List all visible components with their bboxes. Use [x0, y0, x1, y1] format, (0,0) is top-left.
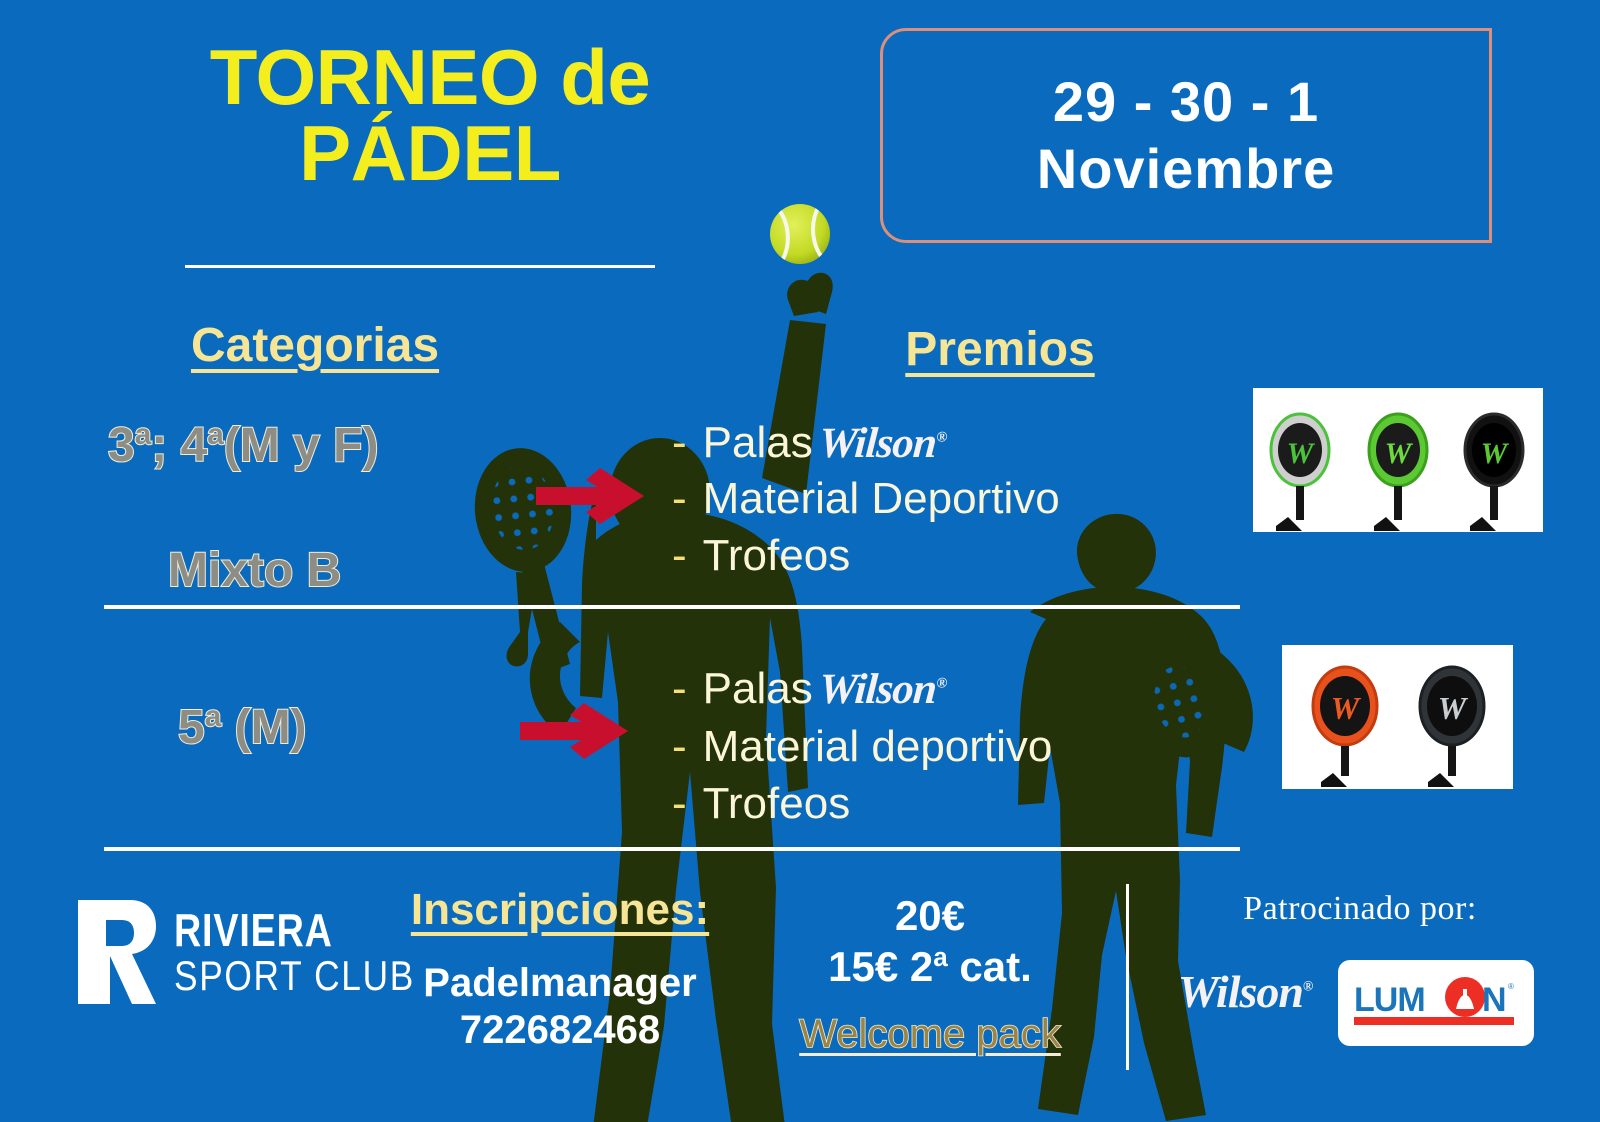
sponsor-wilson-logo: Wilson® [1160, 965, 1330, 1018]
welcome-pack-label: Welcome pack [760, 1012, 1100, 1057]
lumon-mark: LUM N ® [1352, 975, 1520, 1031]
section-divider-2 [104, 847, 1240, 851]
category-item-3: 5a (M) [178, 700, 307, 755]
dash-bullet: - [672, 718, 687, 775]
prize-text: Palas [703, 660, 813, 717]
sponsors-heading: Patrocinado por: [1150, 890, 1570, 928]
prize-text: Palas [703, 415, 813, 471]
dash-bullet: - [672, 660, 687, 717]
prize-text: Material Deportivo [703, 471, 1060, 527]
tennis-ball-icon [770, 204, 830, 264]
prizes-heading: Premios [830, 322, 1170, 377]
wilson-logo: Wilson® [817, 662, 948, 718]
list-item: - Palas Wilson® [672, 660, 1052, 718]
svg-text:W: W [1481, 437, 1510, 470]
svg-text:W: W [1438, 690, 1469, 726]
svg-text:W: W [1385, 437, 1414, 470]
dash-bullet: - [672, 471, 687, 527]
prize-text: Trofeos [703, 528, 851, 584]
title-line-1: TORNEO de [120, 40, 740, 116]
prize-text: Material deportivo [703, 718, 1053, 775]
price-second: 15€ 2a cat. [760, 941, 1100, 992]
section-divider-1 [104, 605, 1240, 609]
racket-photo-bottom: W W [1282, 645, 1513, 789]
racket-holes-right [1147, 661, 1213, 743]
racket-photo-top: W W W [1253, 388, 1543, 532]
svg-text:W: W [1331, 690, 1362, 726]
sponsor-lumon-logo: LUM N ® [1338, 960, 1534, 1046]
svg-text:N: N [1482, 981, 1506, 1019]
wilson-logo: Wilson® [817, 416, 948, 471]
price-main: 20€ [760, 890, 1100, 941]
dash-bullet: - [672, 775, 687, 832]
date-box: 29 - 30 - 1 Noviembre [880, 28, 1492, 243]
red-arrow-bottom [520, 703, 628, 759]
title-line-2: PÁDEL [120, 116, 740, 192]
category-item-2: Mixto B [168, 543, 341, 598]
club-name-line-1: RIVIERA [174, 909, 409, 952]
price-block: 20€ 15€ 2a cat. [760, 890, 1100, 992]
racket-silhouette-center [469, 443, 577, 666]
tournament-poster: W W W [0, 0, 1600, 1122]
prize-text: Trofeos [703, 775, 851, 832]
lumon-red-bar [1354, 1017, 1514, 1025]
club-name-line-2: SPORT CLUB [174, 956, 415, 995]
categories-heading: Categorias [110, 318, 520, 373]
list-item: - Trofeos [672, 528, 1060, 584]
prize-list-group-a: - Palas Wilson® - Material Deportivo - T… [672, 415, 1060, 584]
prize-list-group-b: - Palas Wilson® - Material deportivo - T… [672, 660, 1052, 832]
registration-phone: 722682468 [390, 1007, 730, 1054]
registration-details: Padelmanager 722682468 [390, 960, 730, 1054]
title-divider [185, 265, 655, 268]
dash-bullet: - [672, 528, 687, 584]
list-item: - Palas Wilson® [672, 415, 1060, 471]
list-item: - Material Deportivo [672, 471, 1060, 527]
svg-text:LUM: LUM [1354, 981, 1425, 1019]
list-item: - Material deportivo [672, 718, 1052, 775]
riviera-r-monogram [74, 898, 160, 1006]
date-line-2: Noviembre [1037, 136, 1335, 202]
red-arrow-top [536, 468, 644, 524]
svg-text:W: W [1287, 437, 1316, 470]
list-item: - Trofeos [672, 775, 1052, 832]
svg-text:®: ® [1508, 982, 1514, 991]
category-item-1: 3a; 4a(M y F) [108, 418, 378, 473]
dash-bullet: - [672, 415, 687, 471]
registration-heading: Inscripciones: [390, 885, 730, 935]
page-title: TORNEO de PÁDEL [120, 40, 740, 191]
registration-platform: Padelmanager [390, 960, 730, 1007]
date-line-1: 29 - 30 - 1 [1053, 69, 1319, 135]
sponsor-divider [1126, 884, 1129, 1070]
